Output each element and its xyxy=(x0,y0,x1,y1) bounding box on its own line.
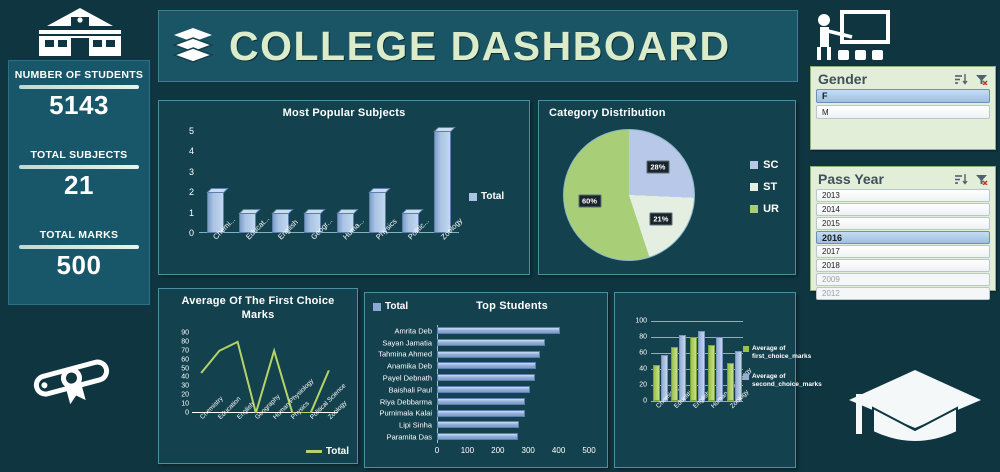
slicer-tools xyxy=(955,174,988,185)
category-label: Tahmina Ahmed xyxy=(378,350,432,359)
kpi-value: 21 xyxy=(9,171,149,201)
category-label: Anamika Deb xyxy=(387,362,432,371)
slicer-title: Gender xyxy=(818,71,867,87)
slicer-item[interactable]: 2009 xyxy=(816,273,990,286)
legend-label: SC xyxy=(763,159,778,171)
bar-group xyxy=(653,321,669,401)
y-axis-tick: 60 xyxy=(181,356,189,363)
bar xyxy=(437,410,525,417)
category-label: Baishali Paul xyxy=(389,385,432,394)
legend-swatch xyxy=(750,205,758,213)
bar-group xyxy=(727,321,743,401)
y-axis-tick: 40 xyxy=(181,374,189,381)
legend-label: Average of first_choice_marks xyxy=(752,345,811,361)
kpi-divider xyxy=(19,165,139,169)
category-label: Amrita Deb xyxy=(394,326,432,335)
slicer-item-list[interactable]: FM xyxy=(811,89,995,119)
slicer-gender[interactable]: Gender FM xyxy=(810,66,996,150)
category-label: Purnimala Kalai xyxy=(379,409,432,418)
page-title: COLLEGE DASHBOARD xyxy=(229,23,731,70)
y-axis-tick: 60 xyxy=(639,350,647,357)
table-row: Lipi Sinha xyxy=(437,419,589,431)
y-axis-tick: 4 xyxy=(189,146,194,156)
slicer-item[interactable]: 2018 xyxy=(816,259,990,272)
chart-title: Category Distribution xyxy=(539,101,795,119)
bar xyxy=(437,362,536,369)
kpi-value: 5143 xyxy=(9,91,149,121)
bar-group xyxy=(690,321,706,401)
y-axis-tick: 40 xyxy=(639,366,647,373)
bar-body xyxy=(434,131,451,233)
table-row: Sayan Jamatia xyxy=(437,337,589,349)
category-label: Riya Debbarma xyxy=(380,397,432,406)
chart-legend: Total xyxy=(469,191,504,202)
kpi-label: NUMBER OF STUDENTS xyxy=(9,69,149,81)
bar xyxy=(653,365,660,401)
bar-plot-area: 012345Chemi...Educat...EnglishGeogr...Hu… xyxy=(199,131,459,233)
bar-top-face xyxy=(206,188,228,193)
y-axis-tick: 80 xyxy=(181,338,189,345)
bar xyxy=(437,433,518,440)
column-plot-area: 020406080100ChemistryEducationEnglishHum… xyxy=(651,321,743,401)
x-axis-tick: 300 xyxy=(522,446,535,455)
legend-label: Total xyxy=(326,446,349,457)
y-axis-tick: 10 xyxy=(181,401,189,408)
legend-item: Average of first_choice_marks xyxy=(743,345,797,361)
slicer-item-list[interactable]: 20132014201520162017201820092012 xyxy=(811,189,995,300)
kpi-divider xyxy=(19,85,139,89)
table-row: Payel Debnath xyxy=(437,372,589,384)
slicer-item[interactable]: 2016 xyxy=(816,231,990,244)
chart-title: Average Of The First Choice Marks xyxy=(159,289,357,323)
kpi-number-of-students: NUMBER OF STUDENTS 5143 xyxy=(9,69,149,121)
bar xyxy=(727,363,734,401)
chart-legend: SC ST UR xyxy=(750,159,779,215)
slicer-pass-year[interactable]: Pass Year 201320142015201620172018200920… xyxy=(810,166,996,291)
bar xyxy=(690,337,697,401)
x-axis-tick: 500 xyxy=(582,446,595,455)
x-axis-tick: 400 xyxy=(552,446,565,455)
chart-category-distribution: Category Distribution 28% 21% 60% SC ST … xyxy=(538,100,796,275)
table-row: Tahmina Ahmed xyxy=(437,349,589,361)
kpi-divider xyxy=(19,245,139,249)
chart-average-first-choice-marks: Average Of The First Choice Marks 010203… xyxy=(158,288,358,464)
y-axis-tick: 100 xyxy=(635,318,647,325)
legend-swatch xyxy=(373,303,381,311)
slicer-item[interactable]: M xyxy=(816,105,990,119)
bar xyxy=(671,347,678,401)
slicer-item[interactable]: 2012 xyxy=(816,287,990,300)
legend-item: UR xyxy=(750,203,779,215)
category-label: Lipi Sinha xyxy=(399,421,432,430)
bar-top-face xyxy=(239,209,261,214)
pie-percent-label: 60% xyxy=(578,195,601,208)
table-row: Amrita Deb xyxy=(437,325,589,337)
pie-plot-area: 28% 21% 60% xyxy=(563,129,695,261)
kpi-label: TOTAL SUBJECTS xyxy=(9,149,149,161)
slicer-item[interactable]: 2013 xyxy=(816,189,990,202)
kpi-panel: NUMBER OF STUDENTS 5143 TOTAL SUBJECTS 2… xyxy=(8,60,150,305)
x-axis-tick: 0 xyxy=(435,446,439,455)
table-row: Purnimala Kalai xyxy=(437,408,589,420)
bar xyxy=(437,421,519,428)
category-label: Sayan Jamatia xyxy=(382,338,432,347)
kpi-total-subjects: TOTAL SUBJECTS 21 xyxy=(9,149,149,201)
legend-swatch xyxy=(306,450,322,453)
slicer-header: Pass Year xyxy=(811,167,995,189)
y-axis-tick: 0 xyxy=(189,228,194,238)
x-axis-tick: 100 xyxy=(461,446,474,455)
bar xyxy=(437,398,525,405)
teacher-board-icon xyxy=(812,8,892,62)
slicer-item[interactable]: F xyxy=(816,89,990,103)
y-axis-tick: 90 xyxy=(181,330,189,337)
bar xyxy=(437,374,535,381)
legend-swatch xyxy=(743,374,749,380)
legend-label: Total xyxy=(481,191,504,202)
clear-filter-icon[interactable] xyxy=(975,174,988,185)
bar xyxy=(437,327,560,334)
legend-item: SC xyxy=(750,159,779,171)
y-axis-tick: 5 xyxy=(189,126,194,136)
bar xyxy=(708,345,715,401)
slicer-item[interactable]: 2014 xyxy=(816,203,990,216)
chart-legend: Total xyxy=(373,301,408,312)
y-axis-tick: 3 xyxy=(189,167,194,177)
table-row: Riya Debbarma xyxy=(437,396,589,408)
y-axis-tick: 0 xyxy=(185,410,189,417)
table-row: Paramita Das xyxy=(437,431,589,443)
bar-top-face xyxy=(434,127,456,132)
y-axis-tick: 20 xyxy=(181,392,189,399)
category-label: Paramita Das xyxy=(387,433,432,442)
line-plot-area: ChemistryEducationEnglishGeographyHuman … xyxy=(192,333,338,413)
diploma-scroll-icon xyxy=(22,345,122,415)
bar-top-face xyxy=(304,209,326,214)
bar xyxy=(437,339,545,346)
kpi-total-marks: TOTAL MARKS 500 xyxy=(9,229,149,281)
bar xyxy=(434,131,451,233)
bar-top-face xyxy=(401,209,423,214)
books-icon xyxy=(171,24,215,68)
legend-item: ST xyxy=(750,181,779,193)
dashboard-title-banner: COLLEGE DASHBOARD xyxy=(158,10,798,82)
bar xyxy=(437,351,540,358)
legend-swatch xyxy=(750,183,758,191)
legend-label: ST xyxy=(763,181,777,193)
bar xyxy=(437,386,530,393)
bar-top-face xyxy=(271,209,293,214)
y-axis-tick: 70 xyxy=(181,347,189,354)
slicer-item[interactable]: 2015 xyxy=(816,217,990,230)
legend-label: UR xyxy=(763,203,779,215)
slicer-title: Pass Year xyxy=(818,171,884,187)
horizontal-bar-plot-area: Amrita DebSayan JamatiaTahmina AhmedAnam… xyxy=(437,325,589,443)
chart-legend: Total xyxy=(306,446,349,457)
slicer-header: Gender xyxy=(811,67,995,89)
legend-swatch xyxy=(469,193,477,201)
chart-most-popular-subjects: Most Popular Subjects 012345Chemi...Educ… xyxy=(158,100,530,275)
sort-icon[interactable] xyxy=(955,174,968,185)
chart-top-students: Total Top Students Amrita DebSayan Jamat… xyxy=(364,292,608,468)
slicer-item[interactable]: 2017 xyxy=(816,245,990,258)
y-axis-tick: 20 xyxy=(639,382,647,389)
bar xyxy=(698,331,705,401)
kpi-value: 500 xyxy=(9,251,149,281)
legend-label: Average of second_choice_marks xyxy=(752,373,822,389)
dashboard-root: NUMBER OF STUDENTS 5143 TOTAL SUBJECTS 2… xyxy=(0,0,1000,472)
category-label: Payel Debnath xyxy=(383,374,432,383)
y-axis-tick: 2 xyxy=(189,187,194,197)
pie-percent-label: 21% xyxy=(649,213,672,226)
sort-icon[interactable] xyxy=(955,74,968,85)
bar-group xyxy=(708,321,724,401)
table-row: Baishali Paul xyxy=(437,384,589,396)
bar-top-face xyxy=(336,209,358,214)
bar-group xyxy=(671,321,687,401)
chart-title: Most Popular Subjects xyxy=(159,101,529,119)
legend-label: Total xyxy=(385,301,408,312)
kpi-label: TOTAL MARKS xyxy=(9,229,149,241)
legend-item: Average of second_choice_marks xyxy=(743,373,797,389)
pie-percent-label: 28% xyxy=(646,161,669,174)
slicer-tools xyxy=(955,74,988,85)
y-axis-tick: 50 xyxy=(181,365,189,372)
bar-top-face xyxy=(369,188,391,193)
graduation-cap-icon xyxy=(845,352,985,457)
chart-legend: Average of first_choice_marks Average of… xyxy=(743,345,797,402)
clear-filter-icon[interactable] xyxy=(975,74,988,85)
y-axis-tick: 0 xyxy=(643,398,647,405)
legend-swatch xyxy=(750,161,758,169)
x-axis-tick: 200 xyxy=(491,446,504,455)
y-axis-tick: 1 xyxy=(189,208,194,218)
y-axis-tick: 30 xyxy=(181,383,189,390)
y-axis-labels: 0102030405060708090 xyxy=(171,329,189,415)
chart-first-vs-second-choice: 020406080100ChemistryEducationEnglishHum… xyxy=(614,292,796,468)
table-row: Anamika Deb xyxy=(437,360,589,372)
y-axis-tick: 80 xyxy=(639,334,647,341)
school-building-icon xyxy=(25,6,135,58)
legend-swatch xyxy=(743,346,749,352)
